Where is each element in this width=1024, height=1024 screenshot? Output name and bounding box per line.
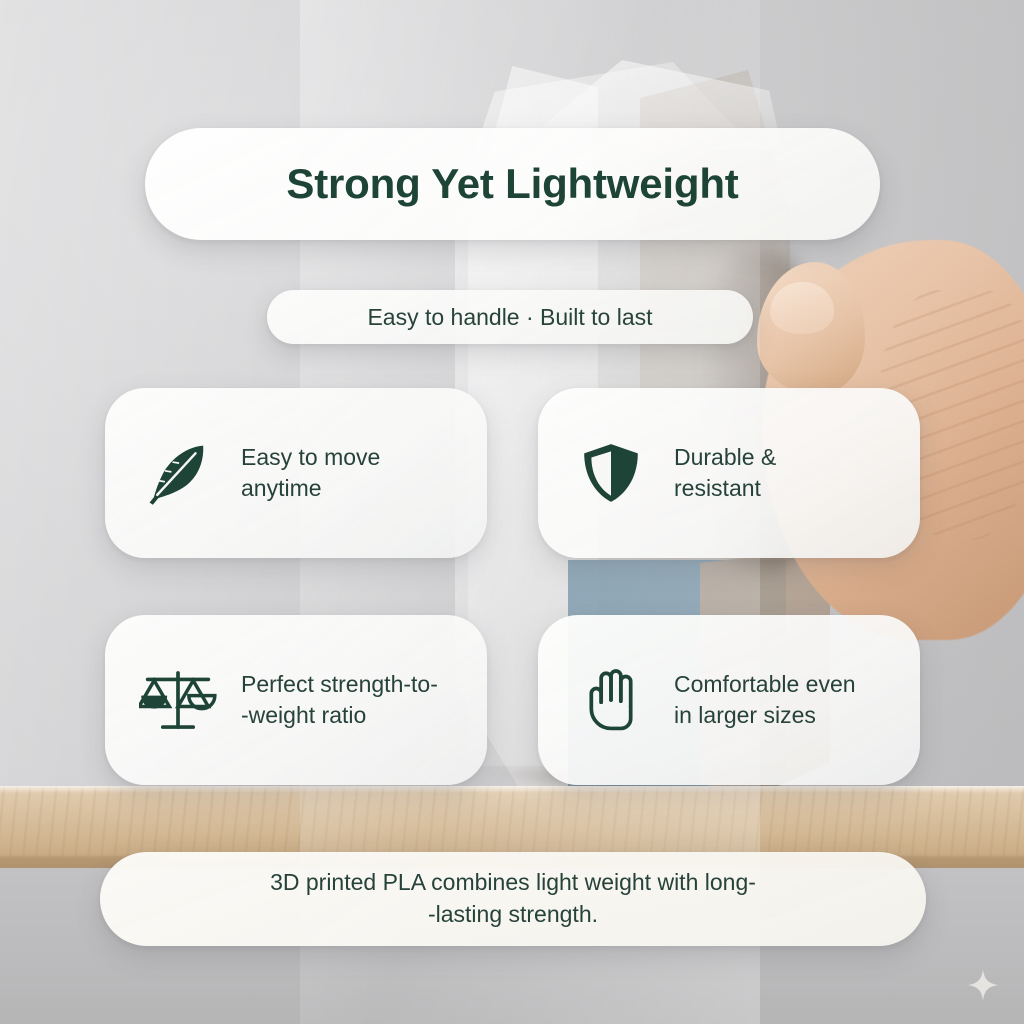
footer-line2: -lasting strength.: [428, 901, 598, 927]
feature-label-line1: Perfect strength-to-: [241, 671, 438, 697]
feature-label-line2: -weight ratio: [241, 702, 366, 728]
feather-icon: [139, 434, 217, 512]
feature-card-strength-to-weight[interactable]: Perfect strength-to- -weight ratio: [105, 615, 487, 785]
title-pill: Strong Yet Lightweight: [145, 128, 880, 240]
footer-caption: 3D printed PLA combines light weight wit…: [230, 867, 796, 930]
feature-label-line1: Easy to move: [241, 444, 380, 470]
feature-card-comfortable[interactable]: Comfortable even in larger sizes: [538, 615, 920, 785]
feature-label: Perfect strength-to- -weight ratio: [241, 669, 438, 730]
page-subtitle: Easy to handle · Built to last: [367, 304, 652, 331]
feature-card-easy-to-move[interactable]: Easy to move anytime: [105, 388, 487, 558]
feature-label: Comfortable even in larger sizes: [674, 669, 856, 730]
feature-label: Easy to move anytime: [241, 442, 380, 503]
feature-label-line1: Comfortable even: [674, 671, 856, 697]
page-title: Strong Yet Lightweight: [286, 160, 738, 208]
feature-label-line1: Durable &: [674, 444, 776, 470]
shield-icon: [572, 434, 650, 512]
balance-scale-icon: [139, 661, 217, 739]
feature-label-line2: resistant: [674, 475, 761, 501]
feature-label: Durable & resistant: [674, 442, 776, 503]
footer-pill: 3D printed PLA combines light weight wit…: [100, 852, 926, 946]
feature-label-line2: anytime: [241, 475, 322, 501]
overlay-ui: Strong Yet Lightweight Easy to handle · …: [0, 0, 1024, 1024]
subtitle-pill: Easy to handle · Built to last: [267, 290, 753, 344]
feature-label-line2: in larger sizes: [674, 702, 816, 728]
footer-line1: 3D printed PLA combines light weight wit…: [270, 869, 756, 895]
open-hand-icon: [572, 661, 650, 739]
feature-card-durable[interactable]: Durable & resistant: [538, 388, 920, 558]
